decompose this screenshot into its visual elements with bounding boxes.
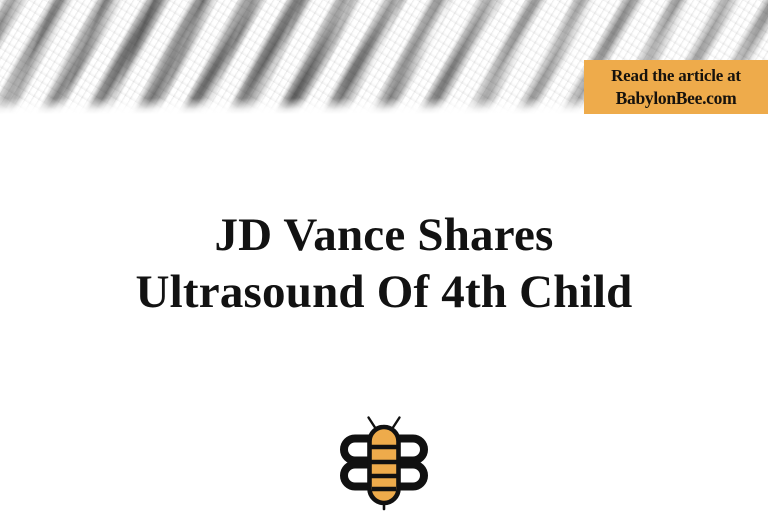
read-banner-line-1: Read the article at [611,65,741,87]
headline-line-1: JD Vance Shares [28,207,740,264]
babylon-bee-logo-container [0,414,768,511]
babylon-bee-logo [332,414,436,511]
headline-line-2: Ultrasound Of 4th Child [28,264,740,321]
read-the-article-banner[interactable]: Read the article at BabylonBee.com [584,60,768,114]
read-banner-line-2: BabylonBee.com [616,87,737,109]
article-share-card: Read the article at BabylonBee.com JD Va… [0,0,768,511]
headline: JD Vance Shares Ultrasound Of 4th Child [0,207,768,321]
bee-body-icon [370,427,399,503]
